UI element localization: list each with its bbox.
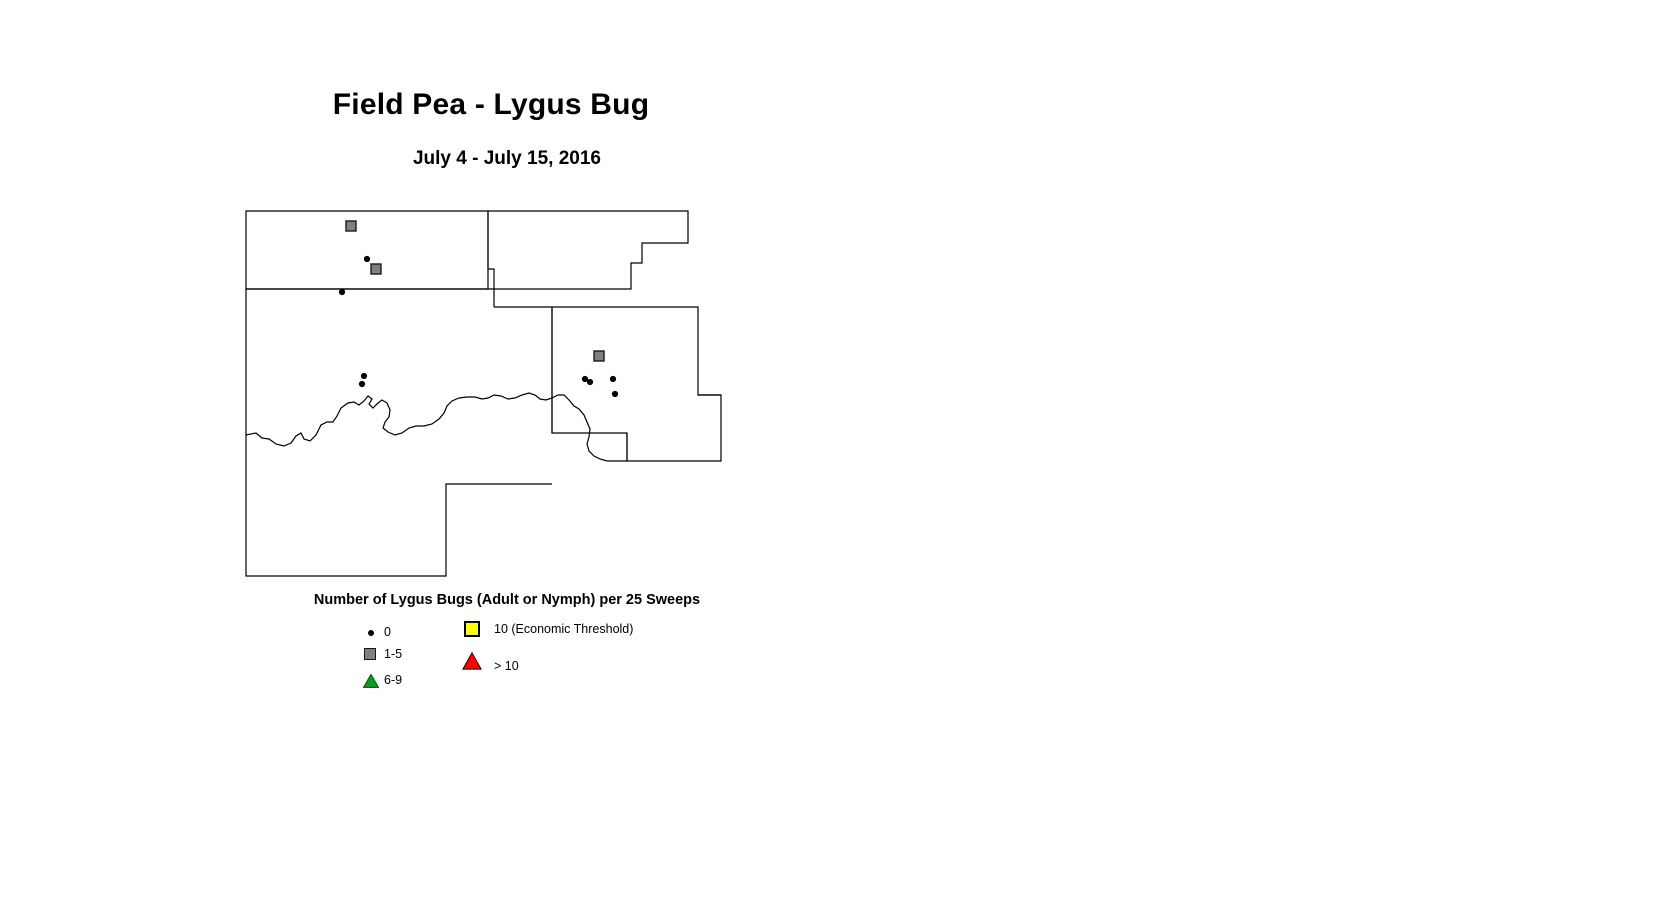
green-triangle-icon <box>360 670 382 692</box>
legend-caption: Number of Lygus Bugs (Adult or Nymph) pe… <box>0 592 1014 608</box>
county-outline-se-step <box>615 433 627 461</box>
county-outline-nw <box>246 211 488 289</box>
red-triangle-icon <box>462 652 484 674</box>
legend-label: 10 (Economic Threshold) <box>494 622 633 636</box>
legend-label: > 10 <box>494 659 519 673</box>
sample-point-square[interactable] <box>346 221 356 231</box>
gray-square-icon <box>360 644 382 666</box>
legend-label: 0 <box>384 625 391 639</box>
sample-point-dot[interactable] <box>359 381 365 387</box>
dot-icon <box>360 622 382 644</box>
legend: 0 1-5 6-9 10 (Economic Threshold) <box>360 618 780 698</box>
county-outline-sw <box>246 289 552 576</box>
legend-label: 1-5 <box>384 647 402 661</box>
river-boundary <box>246 393 615 461</box>
yellow-square-icon <box>462 619 484 641</box>
sample-point-dot[interactable] <box>361 373 367 379</box>
county-outline-e <box>494 307 721 461</box>
sample-point-dot[interactable] <box>610 376 616 382</box>
sample-point-dot[interactable] <box>364 256 370 262</box>
date-range-subtitle: July 4 - July 15, 2016 <box>0 148 1014 170</box>
sample-point-dot[interactable] <box>612 391 618 397</box>
sample-point-square[interactable] <box>371 264 381 274</box>
sample-points[interactable] <box>339 221 618 397</box>
county-outline-ne <box>488 211 688 289</box>
legend-label: 6-9 <box>384 673 402 687</box>
sample-point-square[interactable] <box>594 351 604 361</box>
page-title: Field Pea - Lygus Bug <box>0 88 982 122</box>
sample-point-dot[interactable] <box>587 379 593 385</box>
sample-point-dot[interactable] <box>339 289 345 295</box>
map-figure: Field Pea - Lygus Bug July 4 - July 15, … <box>0 0 1673 900</box>
map-boundaries <box>246 211 721 576</box>
county-map[interactable] <box>238 203 738 588</box>
